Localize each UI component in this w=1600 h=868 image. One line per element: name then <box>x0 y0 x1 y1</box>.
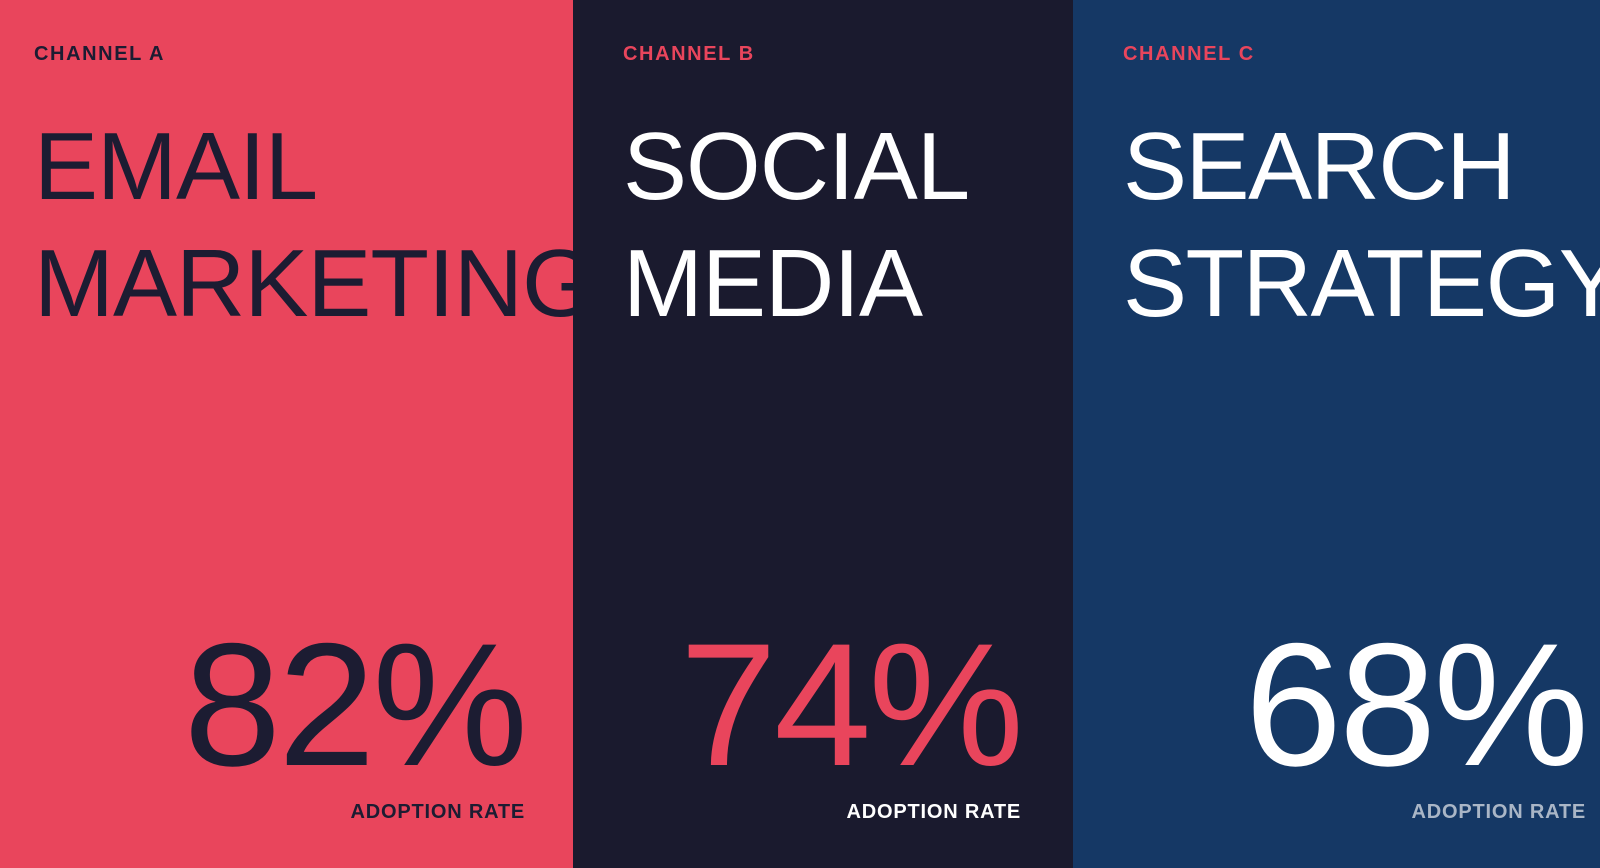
panel-b-stat-block: 74% ADOPTION RATE <box>573 625 1073 868</box>
panel-a-headline: EMAIL MARKETING <box>34 108 553 342</box>
panel-c-stat-value: 68% <box>1073 625 1586 786</box>
panel-c-stat-block: 68% ADOPTION RATE <box>1073 625 1600 868</box>
panel-b-headline: SOCIAL MEDIA <box>623 108 1053 342</box>
panel-c-headline-line-1: SEARCH <box>1123 108 1592 225</box>
panel-c-headline: SEARCH STRATEGY <box>1123 108 1592 342</box>
panel-channel-a[interactable]: CHANNEL A EMAIL MARKETING 82% ADOPTION R… <box>0 0 573 868</box>
panel-a-stat-block: 82% ADOPTION RATE <box>0 625 573 868</box>
panel-b-stat-label: ADOPTION RATE <box>573 802 1021 822</box>
panel-c-header: CHANNEL C SEARCH STRATEGY <box>1073 0 1600 342</box>
panel-b-header: CHANNEL B SOCIAL MEDIA <box>573 0 1073 342</box>
panel-a-headline-line-1: EMAIL <box>34 108 553 225</box>
panel-a-eyebrow-label: CHANNEL A <box>34 44 553 64</box>
panel-b-eyebrow-label: CHANNEL B <box>623 44 1053 64</box>
panel-a-stat-label: ADOPTION RATE <box>0 802 525 822</box>
panel-c-stat-label: ADOPTION RATE <box>1073 802 1586 822</box>
panel-a-headline-line-2: MARKETING <box>34 225 553 342</box>
panel-channel-b[interactable]: CHANNEL B SOCIAL MEDIA 74% ADOPTION RATE <box>573 0 1073 868</box>
panel-a-stat-value: 82% <box>0 625 525 786</box>
panel-c-eyebrow-label: CHANNEL C <box>1123 44 1592 64</box>
panel-channel-c[interactable]: CHANNEL C SEARCH STRATEGY 68% ADOPTION R… <box>1073 0 1600 868</box>
panel-c-headline-line-2: STRATEGY <box>1123 225 1592 342</box>
panel-b-headline-line-1: SOCIAL <box>623 108 1053 225</box>
channel-comparison-board: CHANNEL A EMAIL MARKETING 82% ADOPTION R… <box>0 0 1600 868</box>
panel-b-headline-line-2: MEDIA <box>623 225 1053 342</box>
panel-a-header: CHANNEL A EMAIL MARKETING <box>0 0 573 342</box>
panel-b-stat-value: 74% <box>573 625 1021 786</box>
